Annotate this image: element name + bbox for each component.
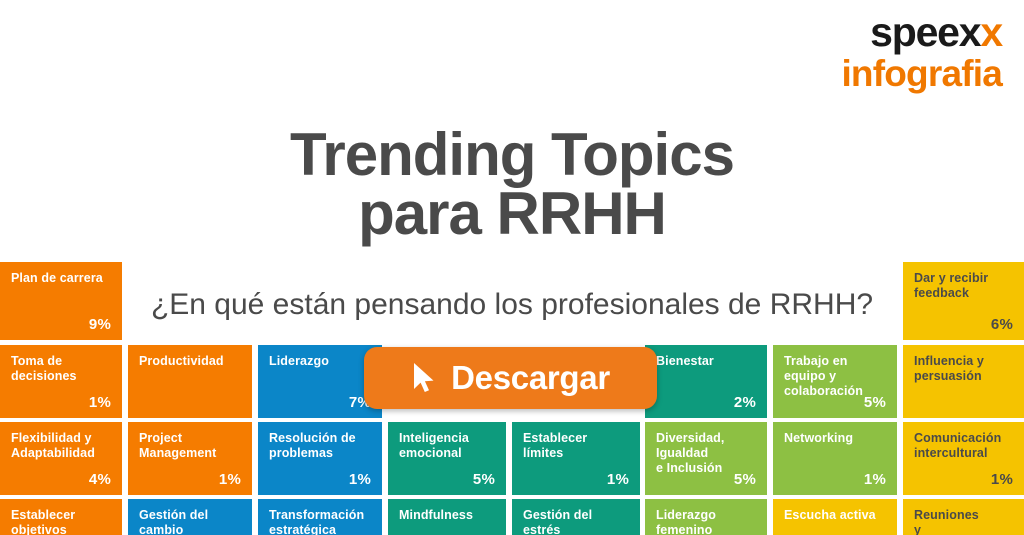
topic-tile-label: Inteligenciaemocional xyxy=(399,431,495,461)
topic-tile-label: Transformaciónestratégica xyxy=(269,508,371,535)
topic-tile-label: Reunionesy presentaciones xyxy=(914,508,1013,535)
topic-tile-label: Establecer objetivos xyxy=(11,508,111,535)
topic-tile-value: 5% xyxy=(864,394,886,411)
topic-tile[interactable]: Transformaciónestratégica xyxy=(258,499,382,535)
topic-tile-label: Diversidad, Igualdade Inclusión xyxy=(656,431,756,476)
topic-tile-label: Liderazgo xyxy=(269,354,371,369)
topic-tile[interactable]: Trabajo en equipo ycolaboración5% xyxy=(773,345,897,418)
topic-tile-label: Liderazgo femenino xyxy=(656,508,756,535)
topic-tile-label: Networking xyxy=(784,431,886,446)
topic-tile[interactable]: Establecer objetivos xyxy=(0,499,122,535)
topic-tile-value: 1% xyxy=(864,471,886,488)
headline-backdrop-bottom xyxy=(122,260,902,342)
topic-tile[interactable]: Productividad xyxy=(128,345,252,418)
topic-tile-label: Influencia ypersuasión xyxy=(914,354,1013,384)
topic-tile-value: 1% xyxy=(991,471,1013,488)
topic-tile[interactable]: Bienestar2% xyxy=(645,345,767,418)
topic-tile[interactable]: Gestión del cambio xyxy=(128,499,252,535)
topic-tile[interactable]: Toma de decisiones1% xyxy=(0,345,122,418)
topic-tile-value: 1% xyxy=(89,394,111,411)
topic-tile[interactable]: Plan de carrera9% xyxy=(0,262,122,340)
download-button[interactable]: Descargar xyxy=(364,347,657,409)
topic-tile-label: Flexibilidad yAdaptabilidad xyxy=(11,431,111,461)
topic-tile-label: ProjectManagement xyxy=(139,431,241,461)
topic-tile[interactable]: Reunionesy presentaciones xyxy=(903,499,1024,535)
topic-tile-label: Gestión del cambio xyxy=(139,508,241,535)
headline-backdrop-top xyxy=(122,120,902,260)
topic-tile[interactable]: Inteligenciaemocional5% xyxy=(388,422,506,495)
topic-tile[interactable]: Resolución deproblemas1% xyxy=(258,422,382,495)
topic-tile-value: 1% xyxy=(607,471,629,488)
topic-tile-label: Trabajo en equipo ycolaboración xyxy=(784,354,886,399)
topic-tile[interactable]: Mindfulness xyxy=(388,499,506,535)
topic-tile-label: Mindfulness xyxy=(399,508,495,523)
topic-tile-value: 4% xyxy=(89,471,111,488)
topic-tile-value: 2% xyxy=(734,394,756,411)
download-button-label: Descargar xyxy=(451,359,610,397)
topic-tile-label: Toma de decisiones xyxy=(11,354,111,384)
topic-tile-label: Establecer límites xyxy=(523,431,629,461)
topic-tile-label: Comunicaciónintercultural xyxy=(914,431,1013,461)
topic-tile[interactable]: Networking1% xyxy=(773,422,897,495)
topic-tile[interactable]: Gestión del estrés xyxy=(512,499,640,535)
topic-tile-label: Bienestar xyxy=(656,354,756,369)
topic-tile[interactable]: Flexibilidad yAdaptabilidad4% xyxy=(0,422,122,495)
topic-tile-value: 5% xyxy=(734,471,756,488)
topic-tile[interactable]: Comunicaciónintercultural1% xyxy=(903,422,1024,495)
topic-tile-label: Resolución deproblemas xyxy=(269,431,371,461)
topic-tile[interactable]: Escucha activa xyxy=(773,499,897,535)
topic-tile-label: Plan de carrera xyxy=(11,271,111,286)
infographic-canvas: Plan de carrera9%Toma de decisiones1%Fle… xyxy=(0,0,1024,535)
topic-tile-value: 9% xyxy=(89,316,111,333)
topic-tile[interactable]: Dar y recibir feedback6% xyxy=(903,262,1024,340)
topic-tile-value: 1% xyxy=(349,471,371,488)
topic-tile[interactable]: ProjectManagement1% xyxy=(128,422,252,495)
topic-tile-label: Escucha activa xyxy=(784,508,886,523)
topic-tile-label: Gestión del estrés xyxy=(523,508,629,535)
topic-tile-value: 1% xyxy=(219,471,241,488)
topic-tile[interactable]: Diversidad, Igualdade Inclusión5% xyxy=(645,422,767,495)
mouse-cursor-icon xyxy=(411,362,437,394)
topic-tile-value: 6% xyxy=(991,316,1013,333)
topic-tile[interactable]: Liderazgo femenino xyxy=(645,499,767,535)
topic-tile-label: Dar y recibir feedback xyxy=(914,271,1013,301)
topic-tile[interactable]: Establecer límites1% xyxy=(512,422,640,495)
topic-tile-value: 5% xyxy=(473,471,495,488)
topic-tile[interactable]: Influencia ypersuasión xyxy=(903,345,1024,418)
topic-tile-label: Productividad xyxy=(139,354,241,369)
